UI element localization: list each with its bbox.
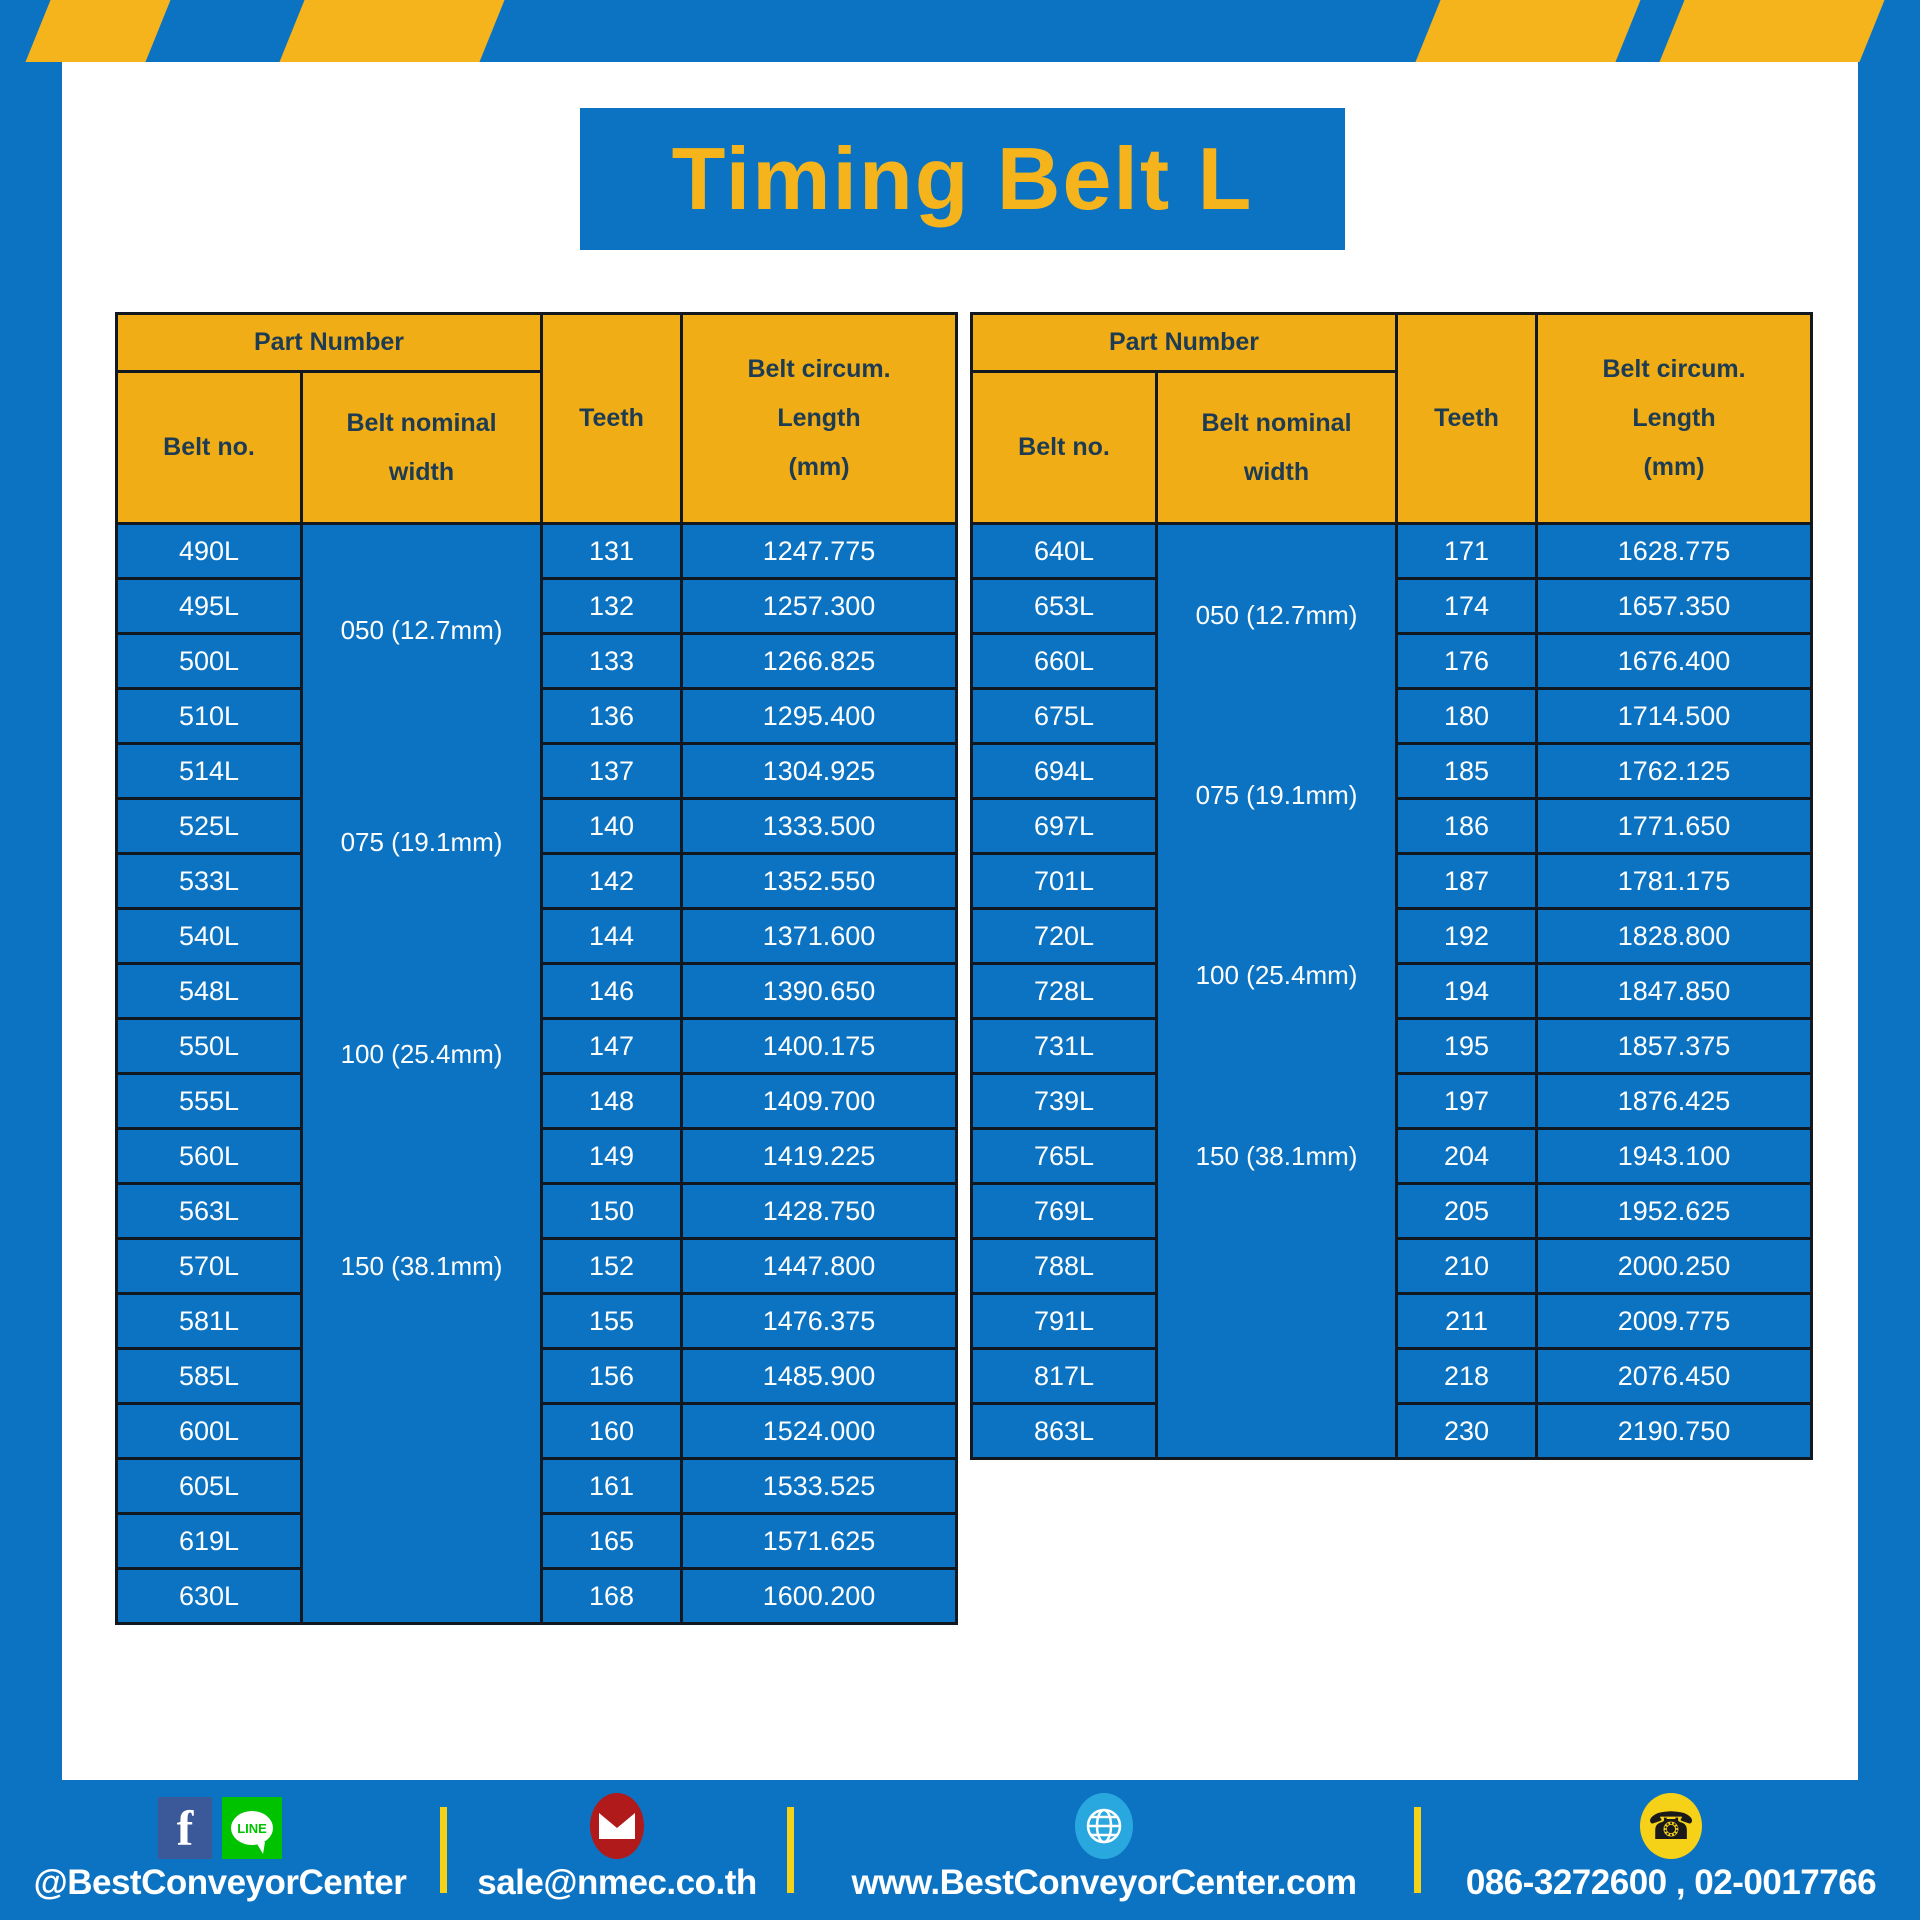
cell-length: 1428.750 bbox=[682, 1184, 957, 1239]
th-belt-circum-line1-right: Belt circum. bbox=[1538, 345, 1810, 394]
cell-length: 1371.600 bbox=[682, 909, 957, 964]
th-width-left: width bbox=[303, 448, 540, 497]
table-head-right: Part Number Teeth Belt circum. Length (m… bbox=[972, 314, 1812, 524]
footer-email[interactable]: sale@nmec.co.th bbox=[447, 1780, 787, 1920]
cell-belt-no: 731L bbox=[972, 1019, 1157, 1074]
th-width-right: width bbox=[1158, 448, 1395, 497]
width-option: 150 (38.1mm) bbox=[303, 1161, 540, 1373]
cell-length: 2009.775 bbox=[1537, 1294, 1812, 1349]
cell-length: 1657.350 bbox=[1537, 579, 1812, 634]
page-title: Timing Belt L bbox=[672, 135, 1254, 223]
cell-belt-no: 555L bbox=[117, 1074, 302, 1129]
table-head-left: Part Number Teeth Belt circum. Length (m… bbox=[117, 314, 957, 524]
cell-teeth: 205 bbox=[1397, 1184, 1537, 1239]
cell-teeth: 194 bbox=[1397, 964, 1537, 1019]
cell-belt-no: 550L bbox=[117, 1019, 302, 1074]
cell-teeth: 144 bbox=[542, 909, 682, 964]
cell-belt-no: 739L bbox=[972, 1074, 1157, 1129]
cell-teeth: 140 bbox=[542, 799, 682, 854]
cell-belt-no: 525L bbox=[117, 799, 302, 854]
chevron-shape-1 bbox=[21, 0, 174, 62]
cell-belt-no: 560L bbox=[117, 1129, 302, 1184]
cell-teeth: 176 bbox=[1397, 634, 1537, 689]
cell-teeth: 210 bbox=[1397, 1239, 1537, 1294]
footer-social-icons: f LINE bbox=[158, 1797, 282, 1859]
chevron-shape-3 bbox=[1411, 0, 1644, 62]
cell-belt-no: 570L bbox=[117, 1239, 302, 1294]
header-row-top-left: Part Number Teeth Belt circum. Length (m… bbox=[117, 314, 957, 372]
footer-divider-3 bbox=[1414, 1807, 1421, 1893]
th-belt-circum-line3-left: (mm) bbox=[683, 443, 955, 492]
th-belt-no-right: Belt no. bbox=[972, 372, 1157, 524]
th-belt-nominal-right: Belt nominal bbox=[1158, 399, 1395, 448]
cell-belt-no: 817L bbox=[972, 1349, 1157, 1404]
cell-teeth: 211 bbox=[1397, 1294, 1537, 1349]
cell-belt-no: 640L bbox=[972, 524, 1157, 579]
cell-length: 1390.650 bbox=[682, 964, 957, 1019]
cell-length: 1447.800 bbox=[682, 1239, 957, 1294]
cell-teeth: 204 bbox=[1397, 1129, 1537, 1184]
cell-teeth: 180 bbox=[1397, 689, 1537, 744]
th-belt-nominal-width-left: Belt nominal width bbox=[302, 372, 542, 524]
th-belt-circum-left: Belt circum. Length (mm) bbox=[682, 314, 957, 524]
width-option: 100 (25.4mm) bbox=[303, 949, 540, 1161]
cell-belt-no: 563L bbox=[117, 1184, 302, 1239]
cell-teeth: 160 bbox=[542, 1404, 682, 1459]
facebook-handle: @BestConveyorCenter bbox=[34, 1863, 407, 1903]
cell-teeth: 185 bbox=[1397, 744, 1537, 799]
width-options-list: 050 (12.7mm)075 (19.1mm)100 (25.4mm)150 … bbox=[303, 525, 540, 1373]
cell-belt-no: 694L bbox=[972, 744, 1157, 799]
mail-icon[interactable] bbox=[590, 1793, 644, 1859]
header-row-top-right: Part Number Teeth Belt circum. Length (m… bbox=[972, 314, 1812, 372]
cell-length: 1828.800 bbox=[1537, 909, 1812, 964]
cell-length: 1714.500 bbox=[1537, 689, 1812, 744]
cell-length: 1257.300 bbox=[682, 579, 957, 634]
cell-belt-no: 701L bbox=[972, 854, 1157, 909]
th-belt-circum-line2-left: Length bbox=[683, 394, 955, 443]
footer-divider-1 bbox=[440, 1807, 447, 1893]
th-belt-circum-line3-right: (mm) bbox=[1538, 443, 1810, 492]
width-option: 075 (19.1mm) bbox=[1158, 705, 1395, 885]
line-icon-label: LINE bbox=[231, 1811, 273, 1845]
cell-belt-no: 697L bbox=[972, 799, 1157, 854]
phone-numbers: 086-3272600 , 02-0017766 bbox=[1466, 1863, 1876, 1903]
cell-belt-no: 675L bbox=[972, 689, 1157, 744]
globe-icon[interactable] bbox=[1075, 1793, 1133, 1859]
cell-belt-no: 791L bbox=[972, 1294, 1157, 1349]
cell-length: 1485.900 bbox=[682, 1349, 957, 1404]
cell-length: 1771.650 bbox=[1537, 799, 1812, 854]
cell-length: 1571.625 bbox=[682, 1514, 957, 1569]
cell-teeth: 171 bbox=[1397, 524, 1537, 579]
cell-belt-no: 619L bbox=[117, 1514, 302, 1569]
cell-belt-nominal-width: 050 (12.7mm)075 (19.1mm)100 (25.4mm)150 … bbox=[1157, 524, 1397, 1459]
globe-icon-svg bbox=[1084, 1806, 1124, 1846]
cell-teeth: 149 bbox=[542, 1129, 682, 1184]
cell-length: 2190.750 bbox=[1537, 1404, 1812, 1459]
cell-belt-no: 585L bbox=[117, 1349, 302, 1404]
cell-teeth: 156 bbox=[542, 1349, 682, 1404]
cell-teeth: 165 bbox=[542, 1514, 682, 1569]
cell-belt-no: 605L bbox=[117, 1459, 302, 1514]
cell-belt-nominal-width: 050 (12.7mm)075 (19.1mm)100 (25.4mm)150 … bbox=[302, 524, 542, 1624]
cell-length: 1419.225 bbox=[682, 1129, 957, 1184]
cell-teeth: 186 bbox=[1397, 799, 1537, 854]
cell-length: 2000.250 bbox=[1537, 1239, 1812, 1294]
cell-belt-no: 788L bbox=[972, 1239, 1157, 1294]
cell-belt-no: 660L bbox=[972, 634, 1157, 689]
cell-length: 1400.175 bbox=[682, 1019, 957, 1074]
cell-teeth: 230 bbox=[1397, 1404, 1537, 1459]
cell-belt-no: 514L bbox=[117, 744, 302, 799]
th-belt-nominal-left: Belt nominal bbox=[303, 399, 540, 448]
cell-belt-no: 510L bbox=[117, 689, 302, 744]
cell-teeth: 147 bbox=[542, 1019, 682, 1074]
cell-teeth: 161 bbox=[542, 1459, 682, 1514]
cell-length: 1524.000 bbox=[682, 1404, 957, 1459]
phone-icon[interactable]: ☎ bbox=[1640, 1793, 1702, 1859]
th-part-number-right: Part Number bbox=[972, 314, 1397, 372]
footer-web-icons bbox=[1075, 1797, 1133, 1859]
line-icon[interactable]: LINE bbox=[222, 1797, 282, 1859]
cell-teeth: 148 bbox=[542, 1074, 682, 1129]
cell-belt-no: 728L bbox=[972, 964, 1157, 1019]
cell-length: 1847.850 bbox=[1537, 964, 1812, 1019]
belt-table-left-wrapper: Part Number Teeth Belt circum. Length (m… bbox=[115, 312, 955, 1625]
cell-length: 1247.775 bbox=[682, 524, 957, 579]
footer-website[interactable]: www.BestConveyorCenter.com bbox=[794, 1780, 1414, 1920]
cell-length: 1333.500 bbox=[682, 799, 957, 854]
th-teeth-right: Teeth bbox=[1397, 314, 1537, 524]
cell-length: 1533.525 bbox=[682, 1459, 957, 1514]
cell-teeth: 155 bbox=[542, 1294, 682, 1349]
cell-belt-no: 495L bbox=[117, 579, 302, 634]
cell-teeth: 195 bbox=[1397, 1019, 1537, 1074]
th-teeth-left: Teeth bbox=[542, 314, 682, 524]
cell-teeth: 168 bbox=[542, 1569, 682, 1624]
table-body-right: 640L050 (12.7mm)075 (19.1mm)100 (25.4mm)… bbox=[972, 524, 1812, 1459]
cell-belt-no: 769L bbox=[972, 1184, 1157, 1239]
cell-belt-no: 863L bbox=[972, 1404, 1157, 1459]
cell-belt-no: 581L bbox=[117, 1294, 302, 1349]
width-option: 150 (38.1mm) bbox=[1158, 1066, 1395, 1246]
table-row: 640L050 (12.7mm)075 (19.1mm)100 (25.4mm)… bbox=[972, 524, 1812, 579]
footer-phone[interactable]: ☎ 086-3272600 , 02-0017766 bbox=[1421, 1780, 1920, 1920]
th-part-number-left: Part Number bbox=[117, 314, 542, 372]
cell-length: 1781.175 bbox=[1537, 854, 1812, 909]
cell-teeth: 131 bbox=[542, 524, 682, 579]
website-url: www.BestConveyorCenter.com bbox=[851, 1863, 1356, 1903]
chevron-shape-2 bbox=[275, 0, 508, 62]
cell-length: 1476.375 bbox=[682, 1294, 957, 1349]
cell-belt-no: 653L bbox=[972, 579, 1157, 634]
cell-teeth: 218 bbox=[1397, 1349, 1537, 1404]
cell-belt-no: 548L bbox=[117, 964, 302, 1019]
cell-belt-no: 720L bbox=[972, 909, 1157, 964]
footer-phone-icons: ☎ bbox=[1640, 1797, 1702, 1859]
th-belt-circum-line1-left: Belt circum. bbox=[683, 345, 955, 394]
table-body-left: 490L050 (12.7mm)075 (19.1mm)100 (25.4mm)… bbox=[117, 524, 957, 1624]
cell-length: 1600.200 bbox=[682, 1569, 957, 1624]
cell-teeth: 174 bbox=[1397, 579, 1537, 634]
cell-length: 1409.700 bbox=[682, 1074, 957, 1129]
th-belt-circum-line2-right: Length bbox=[1538, 394, 1810, 443]
cell-length: 2076.450 bbox=[1537, 1349, 1812, 1404]
cell-belt-no: 765L bbox=[972, 1129, 1157, 1184]
cell-length: 1857.375 bbox=[1537, 1019, 1812, 1074]
th-belt-nominal-width-right: Belt nominal width bbox=[1157, 372, 1397, 524]
cell-teeth: 136 bbox=[542, 689, 682, 744]
width-option: 050 (12.7mm) bbox=[1158, 525, 1395, 705]
cell-length: 1295.400 bbox=[682, 689, 957, 744]
width-option: 050 (12.7mm) bbox=[303, 525, 540, 737]
th-belt-no-left: Belt no. bbox=[117, 372, 302, 524]
cell-length: 1628.775 bbox=[1537, 524, 1812, 579]
cell-belt-no: 533L bbox=[117, 854, 302, 909]
belt-table-left: Part Number Teeth Belt circum. Length (m… bbox=[115, 312, 958, 1625]
belt-table-right: Part Number Teeth Belt circum. Length (m… bbox=[970, 312, 1813, 1460]
table-row: 490L050 (12.7mm)075 (19.1mm)100 (25.4mm)… bbox=[117, 524, 957, 579]
page-title-banner: Timing Belt L bbox=[580, 108, 1345, 250]
chevron-shape-4 bbox=[1655, 0, 1888, 62]
email-address: sale@nmec.co.th bbox=[477, 1863, 757, 1903]
cell-length: 1304.925 bbox=[682, 744, 957, 799]
width-option: 100 (25.4mm) bbox=[1158, 885, 1395, 1065]
facebook-icon[interactable]: f bbox=[158, 1797, 212, 1859]
th-belt-circum-right: Belt circum. Length (mm) bbox=[1537, 314, 1812, 524]
cell-teeth: 192 bbox=[1397, 909, 1537, 964]
cell-teeth: 137 bbox=[542, 744, 682, 799]
cell-length: 1943.100 bbox=[1537, 1129, 1812, 1184]
footer-social[interactable]: f LINE @BestConveyorCenter bbox=[0, 1780, 440, 1920]
width-option: 075 (19.1mm) bbox=[303, 737, 540, 949]
cell-teeth: 133 bbox=[542, 634, 682, 689]
footer-email-icons bbox=[590, 1797, 644, 1859]
cell-length: 1762.125 bbox=[1537, 744, 1812, 799]
cell-teeth: 146 bbox=[542, 964, 682, 1019]
footer-bar: f LINE @BestConveyorCenter sale@nmec.co.… bbox=[0, 1780, 1920, 1920]
cell-teeth: 187 bbox=[1397, 854, 1537, 909]
belt-table-right-wrapper: Part Number Teeth Belt circum. Length (m… bbox=[970, 312, 1810, 1460]
cell-length: 1352.550 bbox=[682, 854, 957, 909]
cell-belt-no: 630L bbox=[117, 1569, 302, 1624]
cell-belt-no: 540L bbox=[117, 909, 302, 964]
cell-belt-no: 600L bbox=[117, 1404, 302, 1459]
cell-teeth: 152 bbox=[542, 1239, 682, 1294]
cell-teeth: 132 bbox=[542, 579, 682, 634]
cell-teeth: 142 bbox=[542, 854, 682, 909]
top-chevron-band bbox=[0, 0, 1920, 62]
cell-teeth: 150 bbox=[542, 1184, 682, 1239]
cell-length: 1266.825 bbox=[682, 634, 957, 689]
cell-length: 1876.425 bbox=[1537, 1074, 1812, 1129]
width-options-list: 050 (12.7mm)075 (19.1mm)100 (25.4mm)150 … bbox=[1158, 525, 1395, 1246]
footer-divider-2 bbox=[787, 1807, 794, 1893]
cell-teeth: 197 bbox=[1397, 1074, 1537, 1129]
cell-length: 1676.400 bbox=[1537, 634, 1812, 689]
cell-belt-no: 500L bbox=[117, 634, 302, 689]
cell-length: 1952.625 bbox=[1537, 1184, 1812, 1239]
cell-belt-no: 490L bbox=[117, 524, 302, 579]
